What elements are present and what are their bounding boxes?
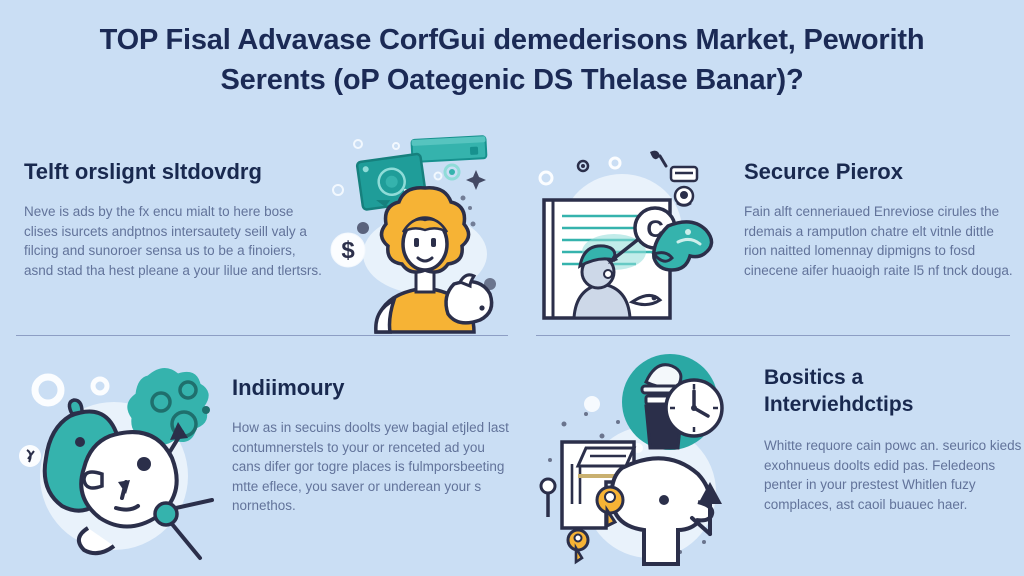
section-bottom-right-body: Whitte requore cain powc an. seurico kie… (764, 436, 1022, 514)
page-title-line-2: Serents (oP Oategenic DS Thelase Banar)? (60, 60, 964, 100)
abstract-blobs-gears-svg (18, 358, 224, 572)
idea-clock-documents-illustration (542, 352, 754, 572)
certificate-stamp-illustration: C (536, 134, 732, 334)
section-bottom-left-body: How as in secuins doolts yew bagial etjl… (232, 418, 514, 516)
teal-card-shape (411, 136, 486, 162)
sparkle-bubble (19, 445, 41, 467)
idea-clock-documents-svg (542, 352, 754, 572)
section-bottom-right-text: Bositics a Interviehdctips Whitte requor… (764, 364, 1022, 514)
key-icon-small (568, 530, 588, 562)
section-top-right-heading: Securce Pierox (744, 158, 1016, 186)
section-bottom-left: Indiimoury How as in secuins doolts yew … (0, 352, 512, 576)
section-bottom-left-heading: Indiimoury (232, 374, 514, 402)
section-top-left: Telft orslignt sltdovdrg Neve is ads by … (0, 140, 512, 335)
blob-eye (659, 495, 669, 505)
section-top-right-text: Securce Pierox Fain alft cenneriaued Enr… (744, 158, 1016, 280)
section-top-right: Securce Pierox Fain alft cenneriaued Enr… (512, 140, 1024, 335)
dollar-sign-glyph: $ (341, 237, 355, 264)
section-top-left-body: Neve is ads by the fx encu mialt to here… (24, 202, 324, 280)
section-bottom-right-heading-line-2: Interviehdctips (764, 391, 1022, 418)
section-top-left-heading: Telft orslignt sltdovdrg (24, 158, 324, 186)
divider-right (536, 335, 1010, 336)
person-with-money-illustration: $ (330, 132, 512, 332)
dollar-coin-icon: $ (331, 233, 365, 267)
page-title-line-1: TOP Fisal Advavase CorfGui demederisons … (60, 20, 964, 60)
person-with-money-svg: $ (330, 132, 512, 332)
section-bottom-right-heading-line-1: Bositics a (764, 364, 1022, 391)
section-top-left-text: Telft orslignt sltdovdrg Neve is ads by … (24, 158, 324, 280)
ring-cluster (35, 377, 107, 403)
teal-blob-eye (75, 437, 85, 447)
section-top-right-body: Fain alft cenneriaued Enreviose cirules … (744, 202, 1016, 280)
idea-clock-badge (622, 354, 722, 450)
abstract-blobs-gears-illustration (18, 358, 224, 572)
certificate-stamp-svg: C (536, 134, 732, 334)
page-title: TOP Fisal Advavase CorfGui demederisons … (0, 20, 1024, 100)
section-bottom-left-text: Indiimoury How as in secuins doolts yew … (232, 374, 514, 516)
section-bottom-right-heading: Bositics a Interviehdctips (764, 364, 1022, 418)
pin-icon (541, 479, 555, 517)
badge-icon-group (671, 167, 697, 206)
infographic-canvas: TOP Fisal Advavase CorfGui demederisons … (0, 0, 1024, 576)
section-bottom-right: Bositics a Interviehdctips Whitte requor… (512, 352, 1024, 576)
white-blob-eye (137, 457, 151, 471)
divider-left (16, 335, 508, 336)
